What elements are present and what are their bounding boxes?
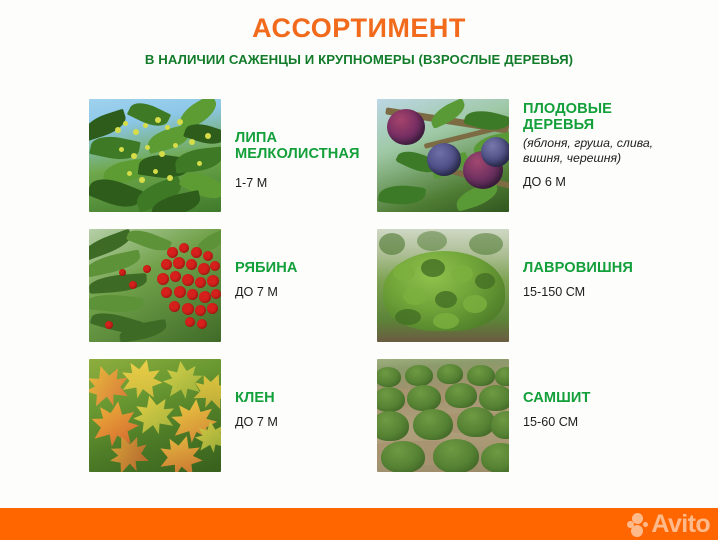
plant-name-line2: МЕЛКОЛИСТНАЯ	[235, 146, 360, 162]
boxwood-caption: САМШИТ 15-60 СМ	[509, 359, 665, 431]
plant-name-line2: ДЕРЕВЬЯ	[523, 117, 594, 133]
avito-watermark: Avito	[627, 512, 710, 537]
fruit-trees-caption: ПЛОДОВЫЕ ДЕРЕВЬЯ (яблоня, груша, слива, …	[509, 99, 665, 190]
plant-name-line1: ЛИПА	[235, 130, 277, 146]
list-item[interactable]: КЛЕН ДО 7 М	[89, 359, 377, 472]
avito-wordmark: Avito	[651, 512, 710, 537]
plant-size: ДО 7 М	[235, 415, 377, 430]
assortment-grid: ЛИПА МЕЛКОЛИСТНАЯ 1-7 М	[89, 99, 649, 489]
plum-fruit-photo	[377, 99, 509, 212]
rowan-thumbnail[interactable]	[89, 229, 221, 342]
plant-name: КЛЕН	[235, 390, 377, 406]
maple-autumn-leaves-photo	[89, 359, 221, 472]
list-item[interactable]: РЯБИНА ДО 7 М	[89, 229, 377, 342]
grid-row: ЛИПА МЕЛКОЛИСТНАЯ 1-7 М	[89, 99, 649, 212]
rowan-berries-photo	[89, 229, 221, 342]
laurel-caption: ЛАВРОВИШНЯ 15-150 СМ	[509, 229, 665, 301]
list-item[interactable]: ЛАВРОВИШНЯ 15-150 СМ	[377, 229, 665, 342]
plant-name: ЛАВРОВИШНЯ	[523, 260, 665, 276]
rowan-caption: РЯБИНА ДО 7 М	[221, 229, 377, 301]
maple-caption: КЛЕН ДО 7 М	[221, 359, 377, 431]
linden-branch-photo	[89, 99, 221, 212]
cherry-laurel-hedge-photo	[377, 229, 509, 342]
bottom-orange-bar: Avito	[0, 508, 718, 540]
laurel-thumbnail[interactable]	[377, 229, 509, 342]
plant-size: 15-60 СМ	[523, 415, 665, 430]
linden-thumbnail[interactable]	[89, 99, 221, 212]
list-item[interactable]: ПЛОДОВЫЕ ДЕРЕВЬЯ (яблоня, груша, слива, …	[377, 99, 665, 212]
plant-name: ПЛОДОВЫЕ ДЕРЕВЬЯ	[523, 101, 665, 134]
boxwood-field-photo	[377, 359, 509, 472]
plant-name: ЛИПА МЕЛКОЛИСТНАЯ	[235, 130, 377, 163]
grid-row: РЯБИНА ДО 7 М	[89, 229, 649, 342]
plant-size: 1-7 М	[235, 176, 377, 191]
plant-size: ДО 6 М	[523, 175, 665, 190]
poster-canvas: АССОРТИМЕНТ В НАЛИЧИИ САЖЕНЦЫ И КРУПНОМЕ…	[0, 0, 718, 540]
list-item[interactable]: ЛИПА МЕЛКОЛИСТНАЯ 1-7 М	[89, 99, 377, 212]
page-title: АССОРТИМЕНТ	[0, 14, 718, 44]
avito-dots-icon	[627, 513, 649, 537]
plant-note: (яблоня, груша, слива, вишня, черешня)	[523, 136, 665, 166]
grid-row: КЛЕН ДО 7 М	[89, 359, 649, 472]
plant-size: 15-150 СМ	[523, 285, 665, 300]
plant-name: САМШИТ	[523, 390, 665, 406]
plant-size: ДО 7 М	[235, 285, 377, 300]
linden-caption: ЛИПА МЕЛКОЛИСТНАЯ 1-7 М	[221, 99, 377, 191]
header: АССОРТИМЕНТ В НАЛИЧИИ САЖЕНЦЫ И КРУПНОМЕ…	[0, 0, 718, 67]
maple-thumbnail[interactable]	[89, 359, 221, 472]
boxwood-thumbnail[interactable]	[377, 359, 509, 472]
plant-name-line1: ПЛОДОВЫЕ	[523, 101, 612, 117]
fruit-trees-thumbnail[interactable]	[377, 99, 509, 212]
page-subtitle: В НАЛИЧИИ САЖЕНЦЫ И КРУПНОМЕРЫ (ВЗРОСЛЫЕ…	[0, 53, 718, 68]
plant-name: РЯБИНА	[235, 260, 377, 276]
list-item[interactable]: САМШИТ 15-60 СМ	[377, 359, 665, 472]
